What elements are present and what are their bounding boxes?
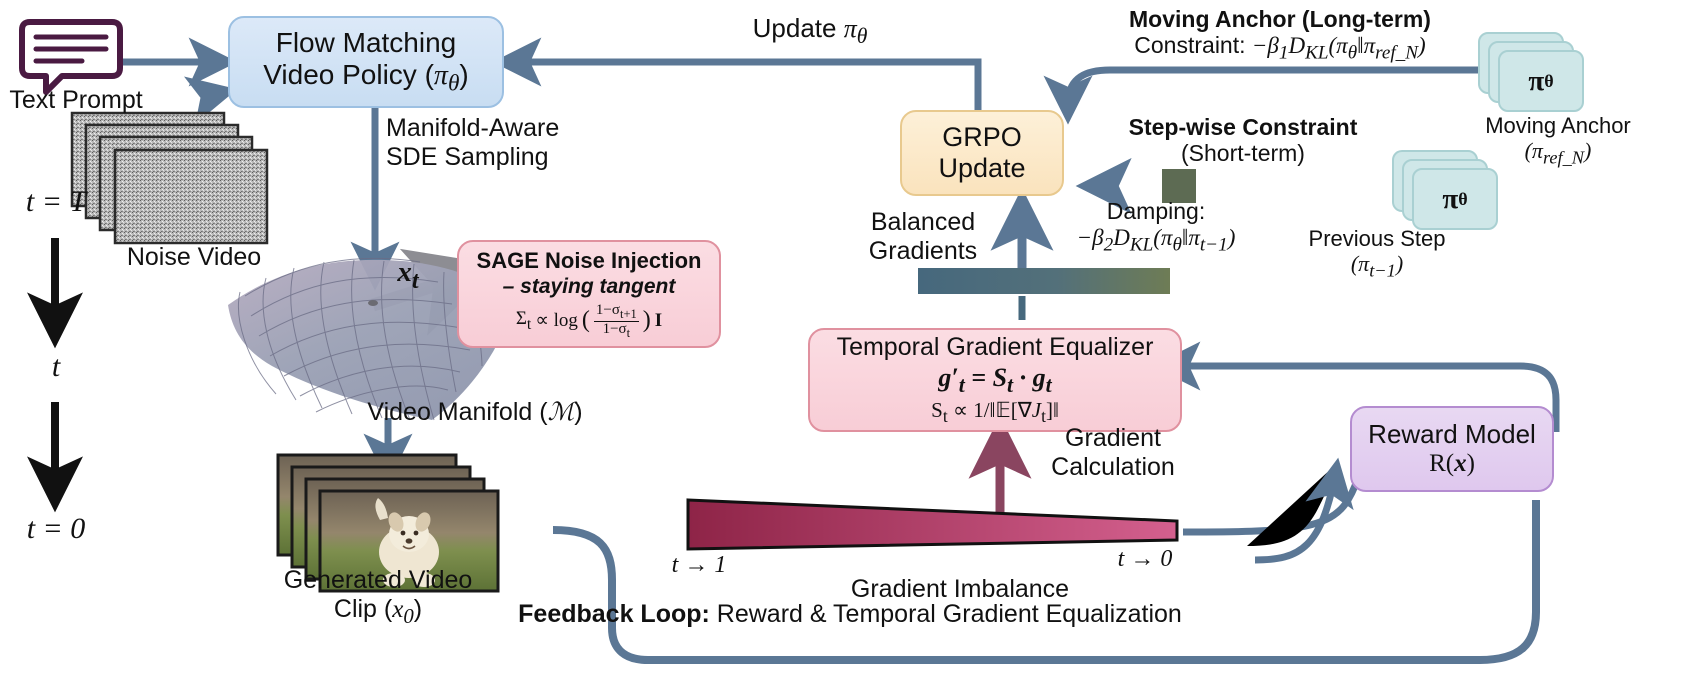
xt-label: xt xyxy=(378,256,438,294)
damping-formula: −β2DKL(πθ‖πt−1) xyxy=(1006,224,1306,256)
stepwise-subtitle: (Short-term) xyxy=(1078,140,1408,166)
sde-line1: Manifold-Aware xyxy=(386,114,616,143)
sde-sampling-label: Manifold-Aware SDE Sampling xyxy=(386,114,616,171)
sde-line2: SDE Sampling xyxy=(386,143,616,172)
footer-caption: Feedback Loop: Reward & Temporal Gradien… xyxy=(440,600,1260,629)
footer-rest: Reward & Temporal Gradient Equalization xyxy=(710,600,1182,628)
gradient-imbalance-triangle xyxy=(688,500,1177,549)
gradcalc-line2: Calculation xyxy=(1018,453,1208,482)
balanced-line2: Gradients xyxy=(848,237,998,266)
arrow-anchor-to-grpo xyxy=(1068,70,1490,112)
policy-line1: Flow Matching xyxy=(276,27,457,59)
moving-anchor-card-stack: πθ xyxy=(1478,32,1588,116)
reward-model-node[interactable]: Reward Model R(x) xyxy=(1350,406,1554,492)
balanced-line1: Balanced xyxy=(848,208,998,237)
balanced-gradients-label: Balanced Gradients xyxy=(848,208,998,265)
imbalance-left-tick: t → 1 xyxy=(644,552,754,579)
grpo-line1: GRPO xyxy=(942,122,1022,153)
text-prompt-icon xyxy=(22,22,120,92)
text-prompt-label: Text Prompt xyxy=(0,86,152,115)
sage-formula: Σt∝ log ( 1−σt+1 1−σt ) I xyxy=(516,303,662,340)
sage-subtitle: – staying tangent xyxy=(503,275,676,299)
stepwise-heading: Step-wise Constraint (Short-term) xyxy=(1078,114,1408,166)
gradient-calculation-label: Gradient Calculation xyxy=(1018,424,1208,481)
reward-line2: R(x) xyxy=(1429,450,1475,479)
prevstep-caption2: (πt−1) xyxy=(1266,251,1488,281)
imbalance-right-tick: t → 0 xyxy=(1090,546,1200,573)
reward-line1: Reward Model xyxy=(1368,420,1536,450)
grpo-update-node[interactable]: GRPO Update xyxy=(900,110,1064,196)
moving-anchor-pi-card: πθ xyxy=(1498,50,1584,112)
equalizer-title: Temporal Gradient Equalizer xyxy=(837,333,1154,362)
noise-video-stack xyxy=(72,113,267,243)
damping-label-group: Damping: −β2DKL(πθ‖πt−1) xyxy=(1006,198,1306,257)
sage-title: SAGE Noise Injection xyxy=(477,248,702,273)
flow-matching-policy-node[interactable]: Flow Matching Video Policy (πθ) xyxy=(228,16,504,108)
previous-step-card-stack: πθ xyxy=(1392,150,1502,234)
moving-anchor-caption1: Moving Anchor xyxy=(1452,113,1664,138)
damping-label: Damping: xyxy=(1006,198,1306,224)
equalizer-formula-main: g′t = St · gt xyxy=(938,363,1051,398)
gen-video-line1: Generated Video xyxy=(254,566,502,595)
grpo-line2: Update xyxy=(938,153,1025,184)
gradcalc-line1: Gradient xyxy=(1018,424,1208,453)
moving-anchor-constraint: Constraint: −β1DKL(πθ‖πref_N) xyxy=(1030,32,1530,64)
previous-step-pi-card: πθ xyxy=(1412,168,1498,230)
update-policy-label: Update πθ xyxy=(620,14,1000,49)
time-label-mid: t xyxy=(6,350,106,384)
noise-video-label: Noise Video xyxy=(106,243,282,272)
sage-noise-injection-node[interactable]: SAGE Noise Injection – staying tangent Σ… xyxy=(457,240,721,348)
stepwise-title: Step-wise Constraint xyxy=(1078,114,1408,140)
equalizer-formula-sub: St ∝ 1/‖𝔼[∇Jt]‖ xyxy=(931,399,1059,427)
footer-bold: Feedback Loop: xyxy=(518,600,710,628)
constraint-prefix: Constraint: xyxy=(1134,32,1252,58)
time-label-top: t = T xyxy=(6,185,106,219)
arrow-grpo-to-policy xyxy=(505,62,978,112)
prevstep-caption1: Previous Step xyxy=(1266,226,1488,251)
moving-anchor-title: Moving Anchor (Long-term) xyxy=(1030,6,1530,32)
diagram-canvas: Flow Matching Video Policy (πθ) Text Pro… xyxy=(0,0,1693,693)
video-manifold-label: Video Manifold (ℳ) xyxy=(330,398,620,428)
temporal-gradient-equalizer-node[interactable]: Temporal Gradient Equalizer g′t = St · g… xyxy=(808,328,1182,432)
balanced-gradient-bar xyxy=(918,268,1170,294)
previous-step-caption: Previous Step (πt−1) xyxy=(1266,226,1488,281)
policy-line2: Video Policy (πθ) xyxy=(263,59,469,97)
time-label-bottom: t = 0 xyxy=(6,512,106,546)
moving-anchor-heading: Moving Anchor (Long-term) Constraint: −β… xyxy=(1030,6,1530,65)
